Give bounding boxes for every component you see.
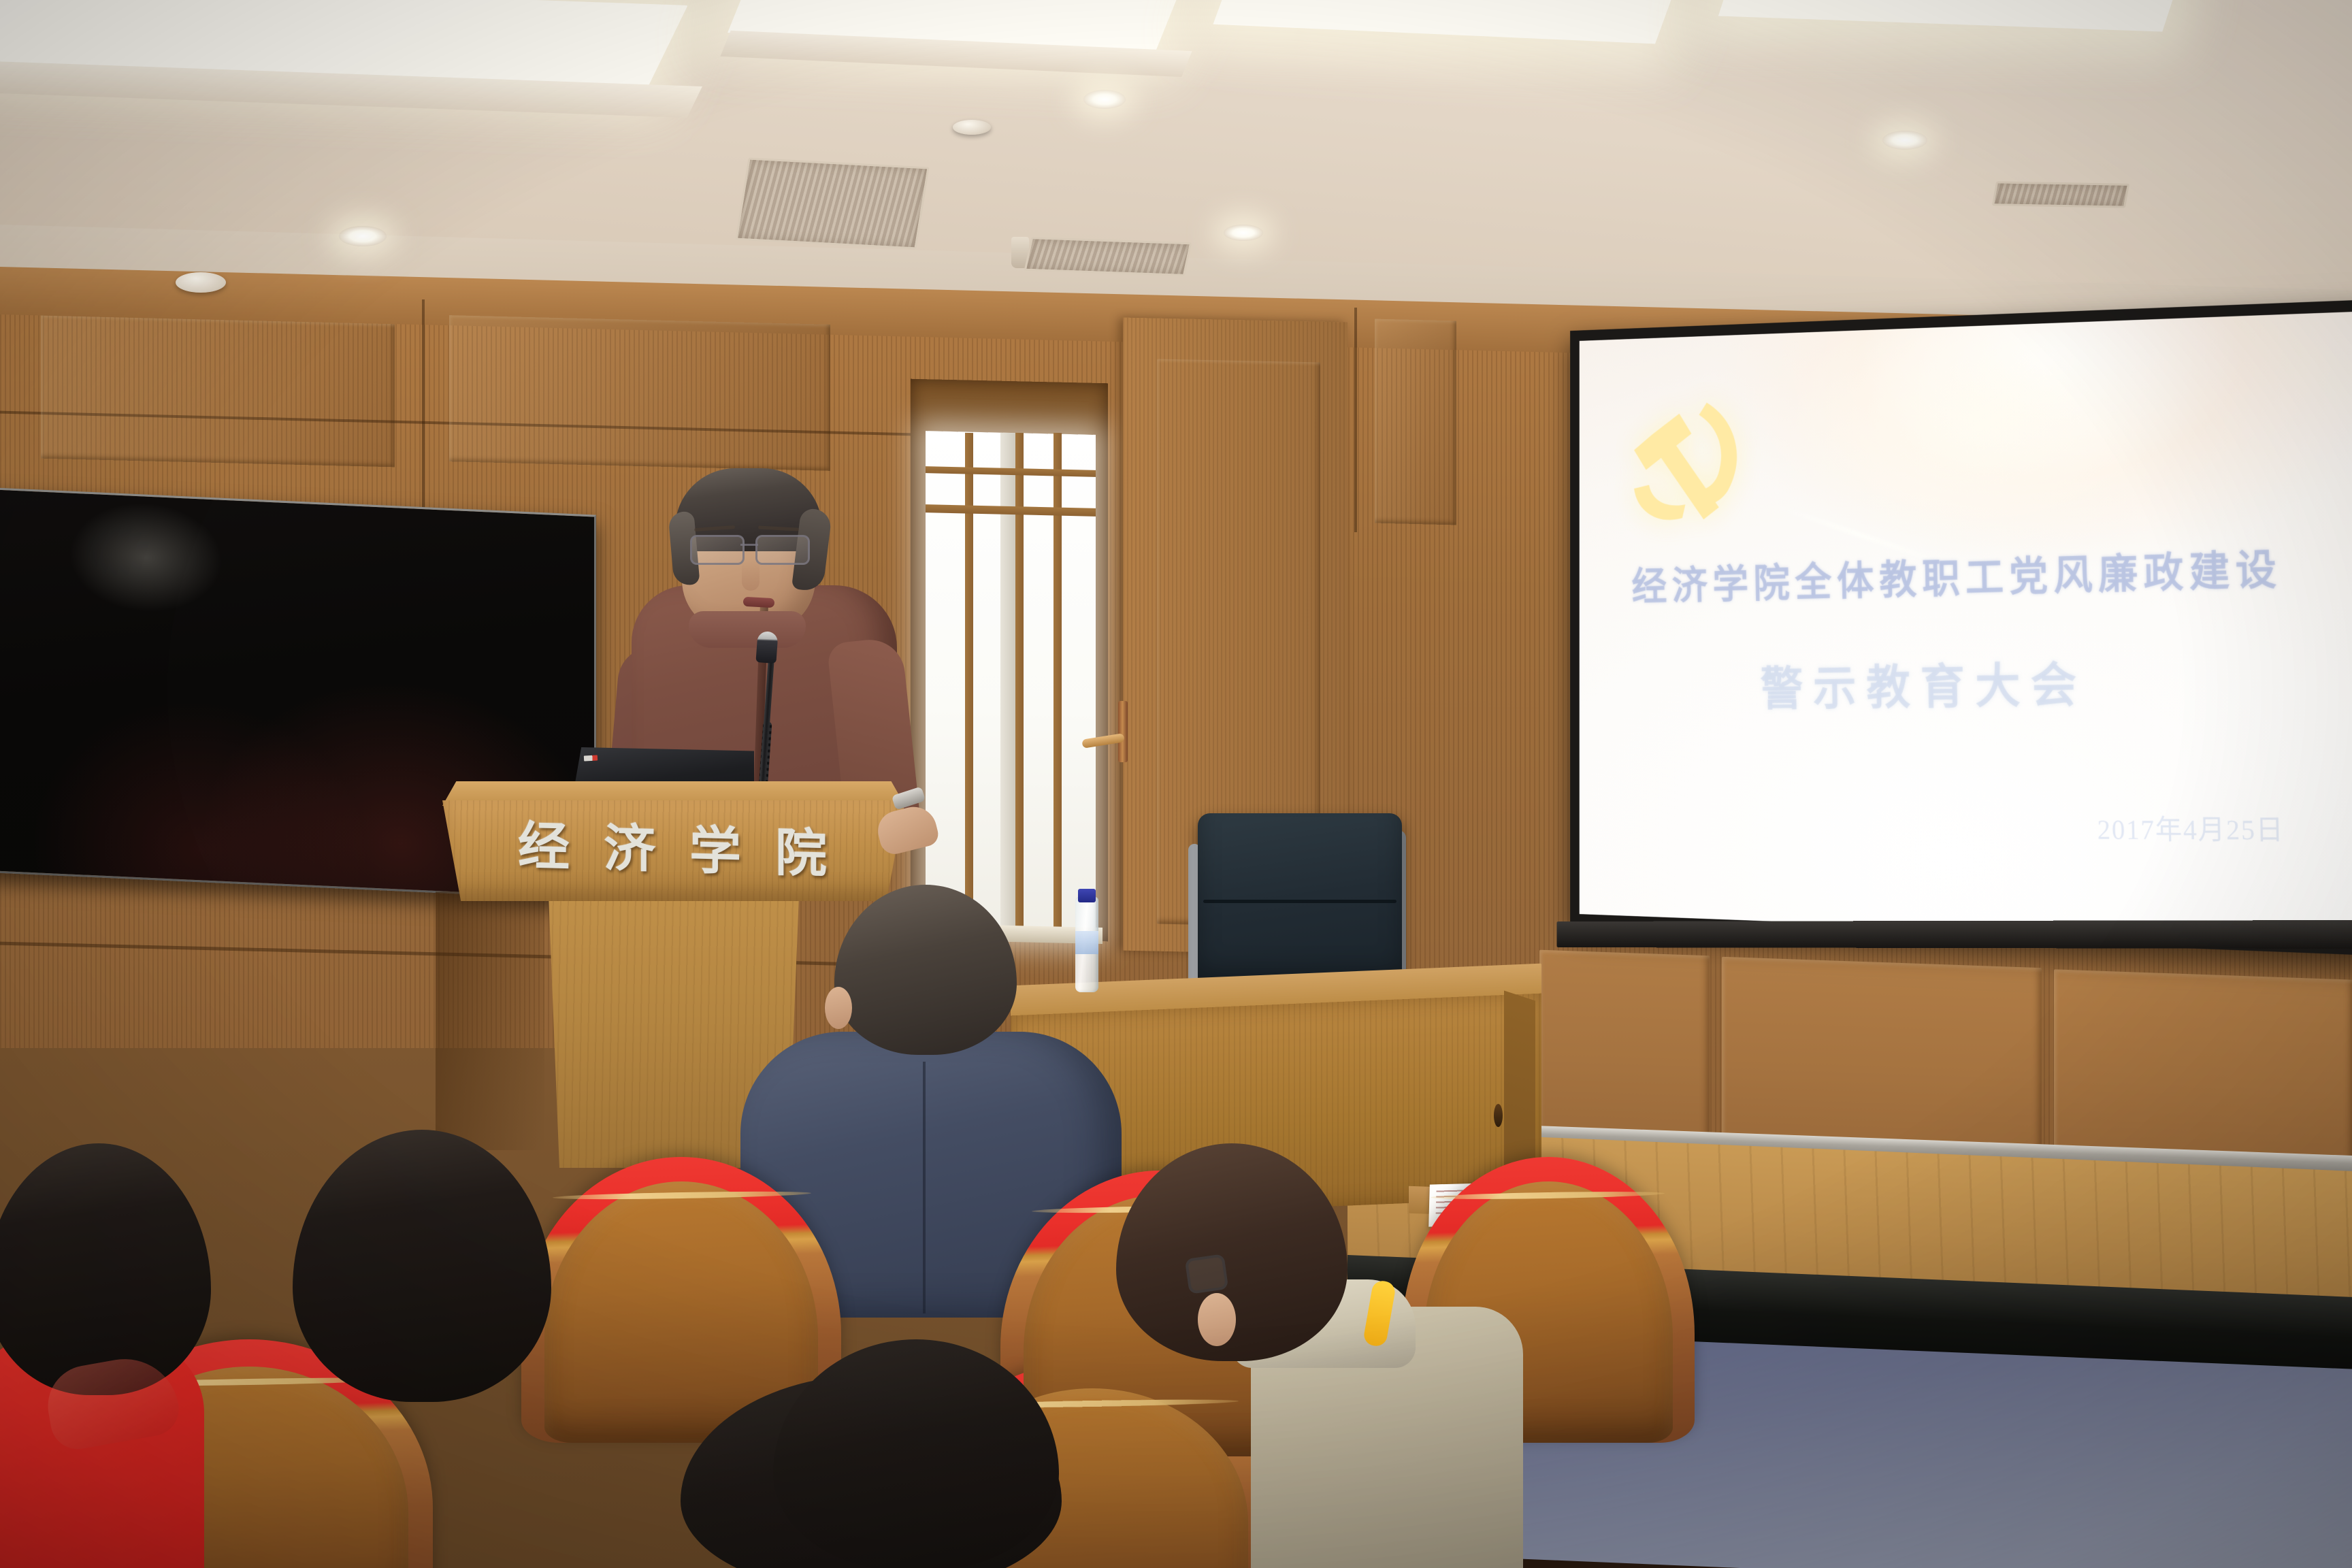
suit-back-seam [923,1062,926,1313]
eyeglasses-icon [689,535,813,562]
slide-date: 2017年4月25日 [2097,807,2285,848]
bottle-cap-icon [1078,889,1096,902]
attendee-ear [825,987,852,1029]
ceiling-downlight-icon [1882,131,1927,150]
eyeglass-lens [690,535,745,565]
ceiling-downlight-icon [1083,90,1126,109]
door-handle-plate[interactable] [1118,701,1128,762]
projection-screen: 经济学院全体教职工党风廉政建设 警示教育大会 2017年4月25日 [1570,299,2352,955]
hvac-vent-icon [735,158,929,250]
eyeglass-lens [755,535,810,565]
wall-recessed-panel [1375,319,1456,525]
conference-hall-photo: 经济学院全体教职工党风廉政建设 警示教育大会 2017年4月25日 经 济 学 … [0,0,2352,1568]
eyeglasses-icon [1185,1254,1229,1294]
slide-subtitle: 警示教育大会 [1580,642,2294,721]
podium-inscription: 经 济 学 院 [442,798,905,892]
gooseneck-microphone[interactable] [755,631,778,664]
speaker-mouth [743,597,775,608]
smoke-detector-icon [176,272,226,293]
podium-char-3: 学 [689,808,744,885]
wainscot-panel [1539,950,1710,1154]
wall-recessed-panel [449,315,830,471]
cabinet-knob-icon[interactable] [1494,1104,1503,1127]
wall-panel-seam [1354,308,1357,532]
podium-char-1: 经 [518,804,572,880]
bottle-label [1075,931,1098,954]
podium-char-4: 院 [775,811,830,887]
podium-char-2: 济 [604,806,658,882]
ceiling-downlight-icon [1224,225,1263,241]
hvac-vent-icon [1992,181,2129,208]
hvac-vent-icon [1024,237,1192,276]
attendee-ear [1198,1293,1236,1346]
projected-slide: 经济学院全体教职工党风廉政建设 警示教育大会 2017年4月25日 [1580,312,2352,944]
eyeglass-bridge [740,544,758,546]
smoke-detector-icon [953,120,991,135]
hammer-and-sickle-emblem [1612,380,1780,553]
wall-recessed-panel [41,316,395,468]
podium-shadow [436,892,544,1150]
speaker-nose [742,561,759,591]
slide-glow [1783,312,2192,557]
ceiling-downlight-icon [339,226,387,246]
projection-screen-casing [1556,920,2352,949]
shirt-collar [689,611,806,648]
chair-cushion-seam [1203,900,1396,903]
laptop-logo-icon [584,755,598,761]
